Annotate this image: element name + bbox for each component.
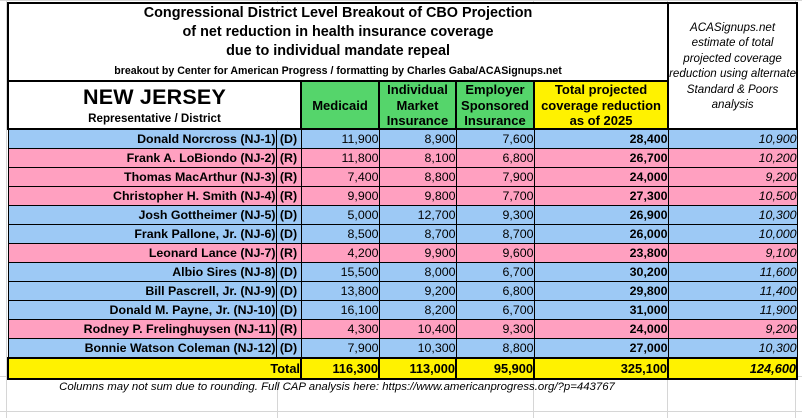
cell-individual: 9,800 (379, 187, 456, 206)
table-row: Donald M. Payne, Jr. (NJ-10) (D) 16,100 … (8, 301, 797, 320)
cell-individual: 8,700 (379, 225, 456, 244)
cell-individual: 8,100 (379, 149, 456, 168)
rep-name: Josh Gottheimer (NJ-5) (8, 206, 276, 225)
cell-employer: 6,700 (456, 301, 534, 320)
cell-alt-estimate: 10,300 (668, 339, 797, 359)
cell-medicaid: 15,500 (301, 263, 379, 282)
title-line-1: Congressional District Level Breakout of… (9, 4, 667, 23)
total-employer: 95,900 (456, 358, 534, 379)
rep-name: Leonard Lance (NJ-7) (8, 244, 276, 263)
rep-party: (R) (276, 320, 301, 339)
cell-total: 26,700 (534, 149, 668, 168)
column-header-medicaid: Medicaid (301, 81, 379, 129)
column-header-individual-market: Individual Market Insurance (379, 81, 456, 129)
cell-total: 24,000 (534, 168, 668, 187)
rep-name: Bill Pascrell, Jr. (NJ-9) (8, 282, 276, 301)
cell-total: 24,000 (534, 320, 668, 339)
rep-party: (D) (276, 225, 301, 244)
rep-name: Rodney P. Frelinghuysen (NJ-11) (8, 320, 276, 339)
table-row: Albio Sires (NJ-8) (D) 15,500 8,000 6,70… (8, 263, 797, 282)
total-label: Total (8, 358, 301, 379)
cell-total: 30,200 (534, 263, 668, 282)
table-row: Frank A. LoBiondo (NJ-2) (R) 11,800 8,10… (8, 149, 797, 168)
state-header-cell: NEW JERSEY Representative / District (8, 81, 301, 129)
table-row: Rodney P. Frelinghuysen (NJ-11) (R) 4,30… (8, 320, 797, 339)
cell-total: 23,800 (534, 244, 668, 263)
rep-name: Donald Norcross (NJ-1) (8, 129, 276, 149)
cell-individual: 9,200 (379, 282, 456, 301)
report-table-container: Congressional District Level Breakout of… (7, 2, 796, 380)
cell-total: 28,400 (534, 129, 668, 149)
cell-employer: 9,300 (456, 206, 534, 225)
rep-party: (D) (276, 282, 301, 301)
cell-employer: 9,300 (456, 320, 534, 339)
state-subtitle: Representative / District (9, 110, 300, 126)
cell-total: 29,800 (534, 282, 668, 301)
cell-employer: 6,800 (456, 282, 534, 301)
cell-alt-estimate: 11,400 (668, 282, 797, 301)
cell-total: 27,000 (534, 339, 668, 359)
cell-medicaid: 11,900 (301, 129, 379, 149)
rep-party: (D) (276, 301, 301, 320)
cell-employer: 9,600 (456, 244, 534, 263)
cell-employer: 8,800 (456, 339, 534, 359)
rep-party: (D) (276, 129, 301, 149)
cell-total: 26,000 (534, 225, 668, 244)
table-row: Donald Norcross (NJ-1) (D) 11,900 8,900 … (8, 129, 797, 149)
cell-medicaid: 4,200 (301, 244, 379, 263)
cell-medicaid: 9,900 (301, 187, 379, 206)
cell-employer: 6,800 (456, 149, 534, 168)
rep-party: (D) (276, 263, 301, 282)
rep-party: (R) (276, 244, 301, 263)
cell-alt-estimate: 10,500 (668, 187, 797, 206)
total-row: Total 116,300 113,000 95,900 325,100 124… (8, 358, 797, 379)
cell-alt-estimate: 9,200 (668, 168, 797, 187)
cell-alt-estimate: 10,200 (668, 149, 797, 168)
table-row: Thomas MacArthur (NJ-3) (R) 7,400 8,800 … (8, 168, 797, 187)
cell-alt-estimate: 10,900 (668, 129, 797, 149)
table-row: Bill Pascrell, Jr. (NJ-9) (D) 13,800 9,2… (8, 282, 797, 301)
title-row: Congressional District Level Breakout of… (8, 3, 797, 81)
cell-individual: 8,800 (379, 168, 456, 187)
cell-medicaid: 7,400 (301, 168, 379, 187)
cell-medicaid: 5,000 (301, 206, 379, 225)
title-credit-line: breakout by Center for American Progress… (9, 61, 667, 80)
title-line-2: of net reduction in health insurance cov… (9, 23, 667, 42)
cell-alt-estimate: 10,000 (668, 225, 797, 244)
total-individual: 113,000 (379, 358, 456, 379)
total-total: 325,100 (534, 358, 668, 379)
rep-party: (R) (276, 187, 301, 206)
rep-name: Donald M. Payne, Jr. (NJ-10) (8, 301, 276, 320)
column-header-total-projected: Total projected coverage reduction as of… (534, 81, 668, 129)
cell-individual: 10,300 (379, 339, 456, 359)
cell-medicaid: 11,800 (301, 149, 379, 168)
cell-total: 26,900 (534, 206, 668, 225)
footnote-text: Columns may not sum due to rounding. Ful… (7, 381, 667, 393)
total-medicaid: 116,300 (301, 358, 379, 379)
total-alt-estimate: 124,600 (668, 358, 797, 379)
cell-alt-estimate: 11,900 (668, 301, 797, 320)
rep-party: (D) (276, 206, 301, 225)
cell-medicaid: 13,800 (301, 282, 379, 301)
cell-alt-estimate: 9,100 (668, 244, 797, 263)
cell-medicaid: 8,500 (301, 225, 379, 244)
column-header-employer-sponsored: Employer Sponsored Insurance (456, 81, 534, 129)
table-row: Leonard Lance (NJ-7) (R) 4,200 9,900 9,6… (8, 244, 797, 263)
rep-name: Frank A. LoBiondo (NJ-2) (8, 149, 276, 168)
cell-employer: 7,600 (456, 129, 534, 149)
cell-individual: 8,000 (379, 263, 456, 282)
table-row: Bonnie Watson Coleman (NJ-12) (D) 7,900 … (8, 339, 797, 359)
cell-total: 31,000 (534, 301, 668, 320)
rep-party: (R) (276, 168, 301, 187)
cbo-projection-table: Congressional District Level Breakout of… (7, 2, 798, 380)
title-line-3: due to individual mandate repeal (9, 42, 667, 61)
cell-individual: 8,200 (379, 301, 456, 320)
cell-alt-estimate: 9,200 (668, 320, 797, 339)
cell-employer: 7,900 (456, 168, 534, 187)
cell-individual: 8,900 (379, 129, 456, 149)
cell-alt-estimate: 10,300 (668, 206, 797, 225)
cell-individual: 9,900 (379, 244, 456, 263)
cell-medicaid: 4,300 (301, 320, 379, 339)
rep-name: Thomas MacArthur (NJ-3) (8, 168, 276, 187)
cell-medicaid: 7,900 (301, 339, 379, 359)
table-row: Frank Pallone, Jr. (NJ-6) (D) 8,500 8,70… (8, 225, 797, 244)
rep-name: Bonnie Watson Coleman (NJ-12) (8, 339, 276, 359)
cell-employer: 8,700 (456, 225, 534, 244)
rep-party: (R) (276, 149, 301, 168)
rep-name: Frank Pallone, Jr. (NJ-6) (8, 225, 276, 244)
cell-total: 27,300 (534, 187, 668, 206)
table-row: Josh Gottheimer (NJ-5) (D) 5,000 12,700 … (8, 206, 797, 225)
rep-name: Albio Sires (NJ-8) (8, 263, 276, 282)
cell-individual: 12,700 (379, 206, 456, 225)
state-name: NEW JERSEY (9, 85, 300, 110)
rep-party: (D) (276, 339, 301, 359)
report-title-cell: Congressional District Level Breakout of… (8, 3, 668, 81)
cell-alt-estimate: 11,600 (668, 263, 797, 282)
cell-individual: 10,400 (379, 320, 456, 339)
cell-employer: 6,700 (456, 263, 534, 282)
cell-employer: 7,700 (456, 187, 534, 206)
cell-medicaid: 16,100 (301, 301, 379, 320)
rep-name: Christopher H. Smith (NJ-4) (8, 187, 276, 206)
alternate-estimate-caption: ACASignups.net estimate of total project… (668, 3, 797, 129)
table-row: Christopher H. Smith (NJ-4) (R) 9,900 9,… (8, 187, 797, 206)
